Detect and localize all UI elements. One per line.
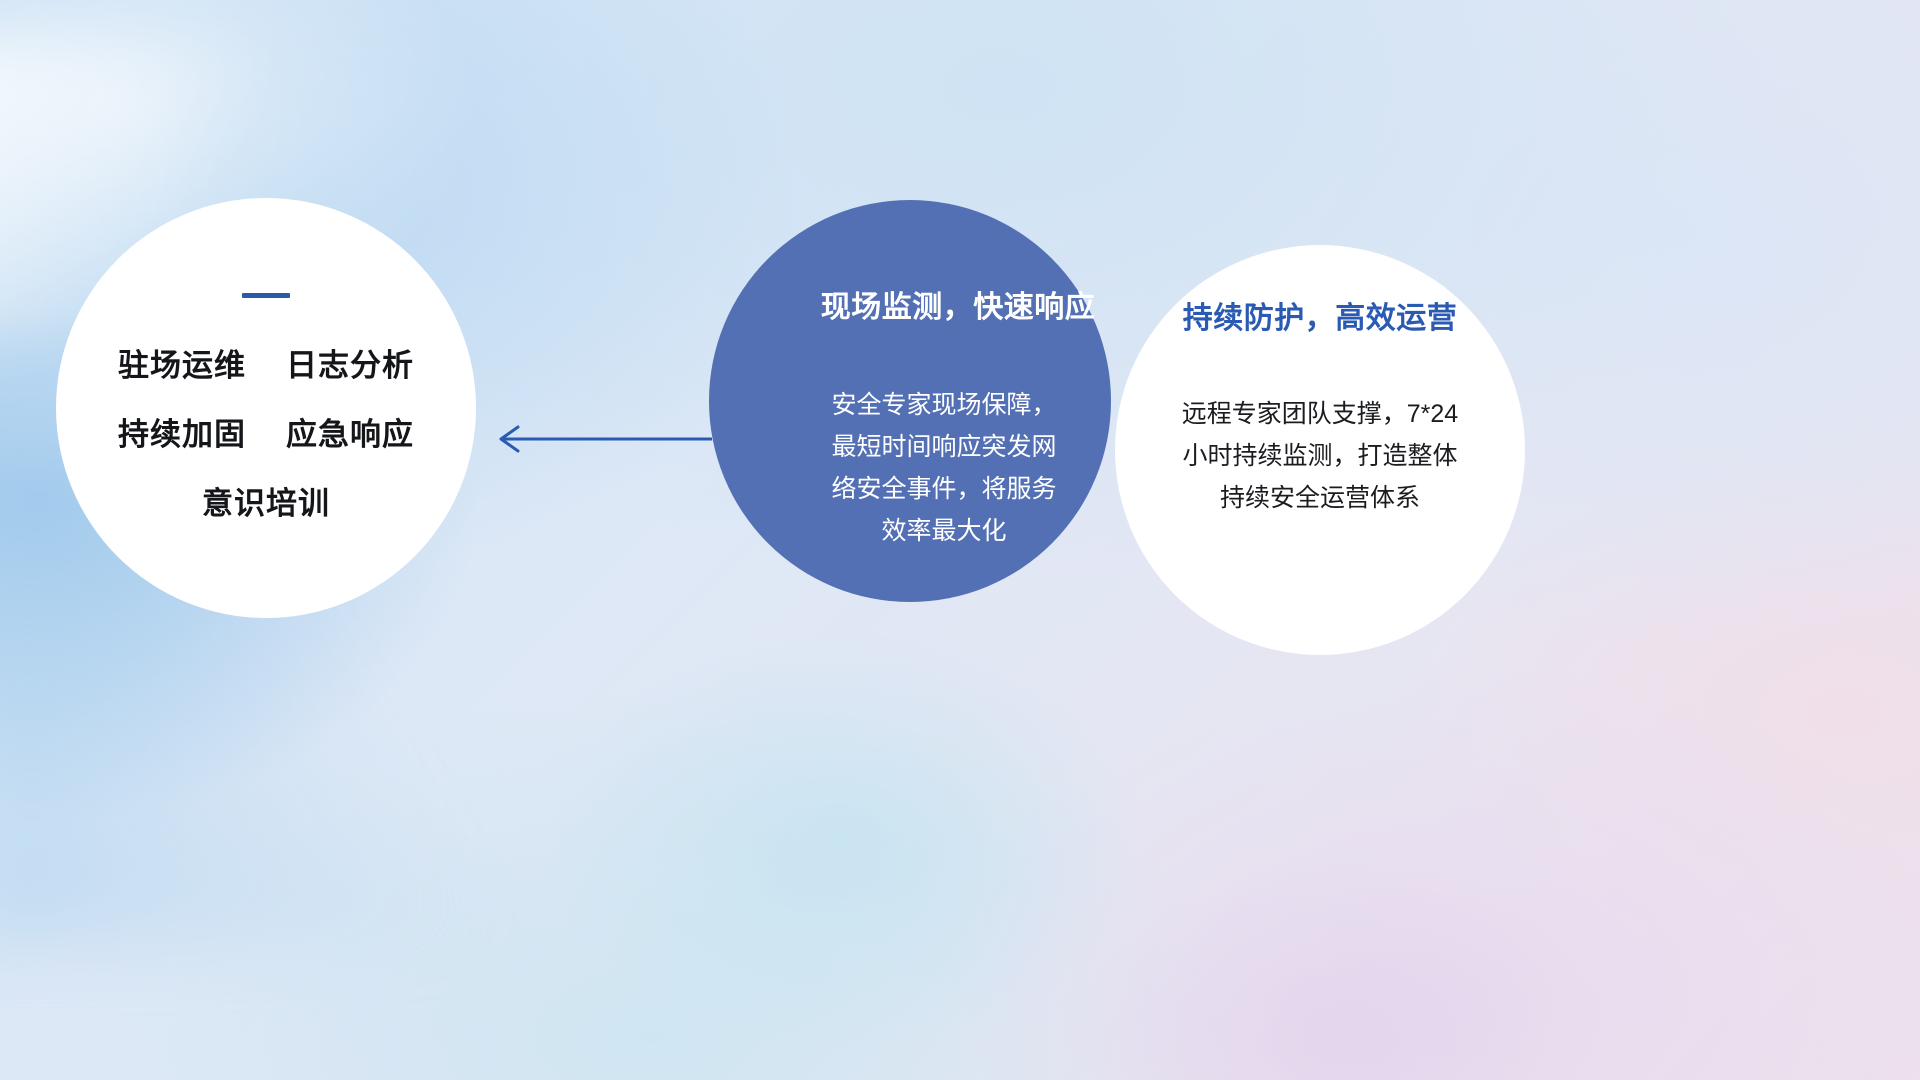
service-circle-continuous[interactable]: 持续防护，高效运营 远程专家团队支撑，7*24 小时持续监测，打造整体 持续安全… <box>1115 245 1525 655</box>
capability-tag-row: 持续加固 应急响应 <box>118 409 414 454</box>
service-description-line: 效率最大化 <box>794 510 1094 552</box>
capability-tag-list: 驻场运维 日志分析 持续加固 应急响应 意识培训 <box>118 340 414 523</box>
service-title-continuous: 持续防护，高效运营 <box>1183 293 1458 337</box>
service-description-continuous: 远程专家团队支撑，7*24 小时持续监测，打造整体 持续安全运营体系 <box>1141 393 1499 519</box>
service-description-line: 远程专家团队支撑，7*24 <box>1141 393 1499 435</box>
service-title-onsite: 现场监测，快速响应 <box>821 282 1096 326</box>
service-description-line: 安全专家现场保障， <box>794 384 1094 426</box>
capability-tag-chixujiagu[interactable]: 持续加固 <box>118 409 246 454</box>
flow-arrow-left <box>488 418 712 460</box>
service-description-line: 小时持续监测，打造整体 <box>1141 435 1499 477</box>
service-description-onsite: 安全专家现场保障， 最短时间响应突发网 络安全事件，将服务 效率最大化 <box>794 384 1094 552</box>
capability-tag-row: 驻场运维 日志分析 <box>118 340 414 385</box>
divider-dash <box>242 293 290 298</box>
capability-tag-rizhifenxi[interactable]: 日志分析 <box>286 340 414 385</box>
service-circle-onsite[interactable]: 现场监测，快速响应 安全专家现场保障， 最短时间响应突发网 络安全事件，将服务 … <box>709 200 1111 602</box>
capability-tag-yishipeixun[interactable]: 意识培训 <box>202 478 330 523</box>
capability-tag-zhuchangyunwei[interactable]: 驻场运维 <box>118 340 246 385</box>
capability-circle-left[interactable]: 驻场运维 日志分析 持续加固 应急响应 意识培训 <box>56 198 476 618</box>
capability-tag-yingjixiangying[interactable]: 应急响应 <box>286 409 414 454</box>
arrow-left-icon <box>488 418 712 460</box>
capability-tag-row: 意识培训 <box>202 478 330 523</box>
service-description-line: 最短时间响应突发网 <box>794 426 1094 468</box>
service-description-line: 持续安全运营体系 <box>1141 477 1499 519</box>
slide-canvas: 驻场运维 日志分析 持续加固 应急响应 意识培训 现场监测，快速响应 安全专家现… <box>0 0 1920 1080</box>
service-description-line: 络安全事件，将服务 <box>794 468 1094 510</box>
